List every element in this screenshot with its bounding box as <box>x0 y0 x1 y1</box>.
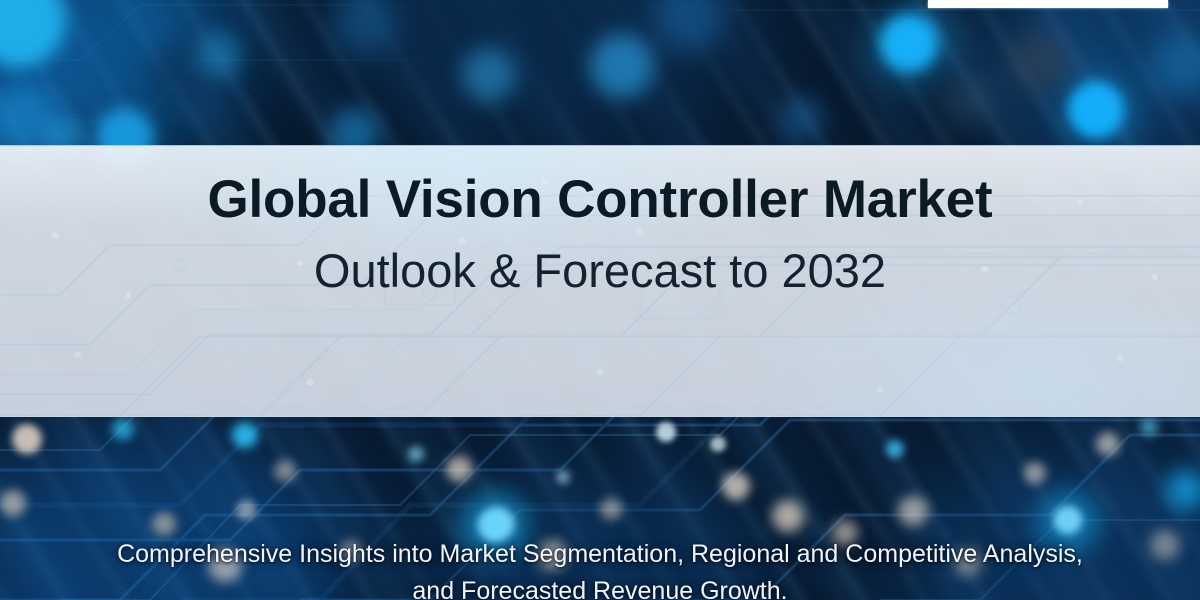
caption-line-1: Comprehensive Insights into Market Segme… <box>26 536 1174 573</box>
page-title: Global Vision Controller Market <box>207 172 992 228</box>
market-report-banner: Global Vision Controller Market Outlook … <box>0 0 1200 600</box>
title-band: Global Vision Controller Market Outlook … <box>0 145 1200 417</box>
top-white-strip <box>928 0 1168 8</box>
caption-line-2: and Forecasted Revenue Growth. <box>26 573 1174 600</box>
banner-caption: Comprehensive Insights into Market Segme… <box>0 536 1200 600</box>
page-subtitle: Outlook & Forecast to 2032 <box>314 246 886 295</box>
